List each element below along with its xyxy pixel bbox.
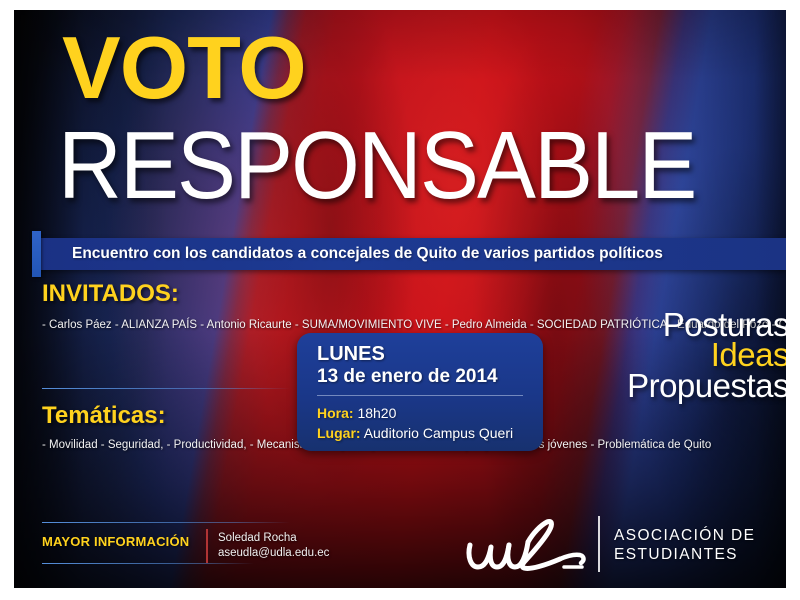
poster-canvas: VOTO RESPONSABLE Encuentro con los candi… — [14, 10, 786, 588]
contact-details: Soledad Rocha aseudla@udla.edu.ec — [218, 531, 329, 561]
udla-logo-icon — [464, 515, 594, 577]
mayor-informacion-label: MAYOR INFORMACIÓN — [42, 534, 189, 549]
divider-rule-contact-bottom — [42, 563, 254, 564]
event-venue-value: Auditorio Campus Queri — [364, 425, 513, 441]
organization-name: ASOCIACIÓN DE ESTUDIANTES — [614, 526, 755, 564]
contact-vertical-divider — [206, 529, 208, 563]
title-responsable: RESPONSABLE — [58, 118, 696, 214]
organization-line-2: ESTUDIANTES — [614, 545, 755, 564]
event-venue-label: Lugar: — [317, 425, 361, 441]
event-time-label: Hora: — [317, 405, 354, 421]
contact-email[interactable]: aseudla@udla.edu.ec — [218, 546, 329, 561]
subtitle-banner: Encuentro con los candidatos a concejale… — [36, 238, 786, 270]
event-day: LUNES — [317, 343, 385, 366]
event-venue-row: Lugar: Auditorio Campus Queri — [317, 425, 513, 441]
organization-line-1: ASOCIACIÓN DE — [614, 526, 755, 545]
event-card-divider — [317, 395, 523, 396]
event-time-row: Hora: 18h20 — [317, 405, 396, 421]
event-date: 13 de enero de 2014 — [317, 366, 498, 388]
tematicas-heading: Temáticas: — [42, 402, 166, 430]
event-time-value: 18h20 — [357, 405, 396, 421]
banner-accent-bar — [32, 231, 41, 277]
invitados-heading: INVITADOS: — [42, 280, 179, 308]
divider-rule-contact-top — [42, 522, 290, 523]
contact-name: Soledad Rocha — [218, 531, 329, 546]
slogan-line-propuestas: Propuestas — [559, 371, 786, 401]
slogan-block: Posturas Ideas Propuestas — [559, 310, 786, 401]
title-voto: VOTO — [62, 24, 306, 112]
event-details-card: LUNES 13 de enero de 2014 Hora: 18h20 Lu… — [297, 333, 543, 451]
divider-rule-invitados — [42, 388, 290, 389]
logo-vertical-divider — [598, 516, 600, 572]
subtitle-banner-text: Encuentro con los candidatos a concejale… — [72, 238, 663, 270]
